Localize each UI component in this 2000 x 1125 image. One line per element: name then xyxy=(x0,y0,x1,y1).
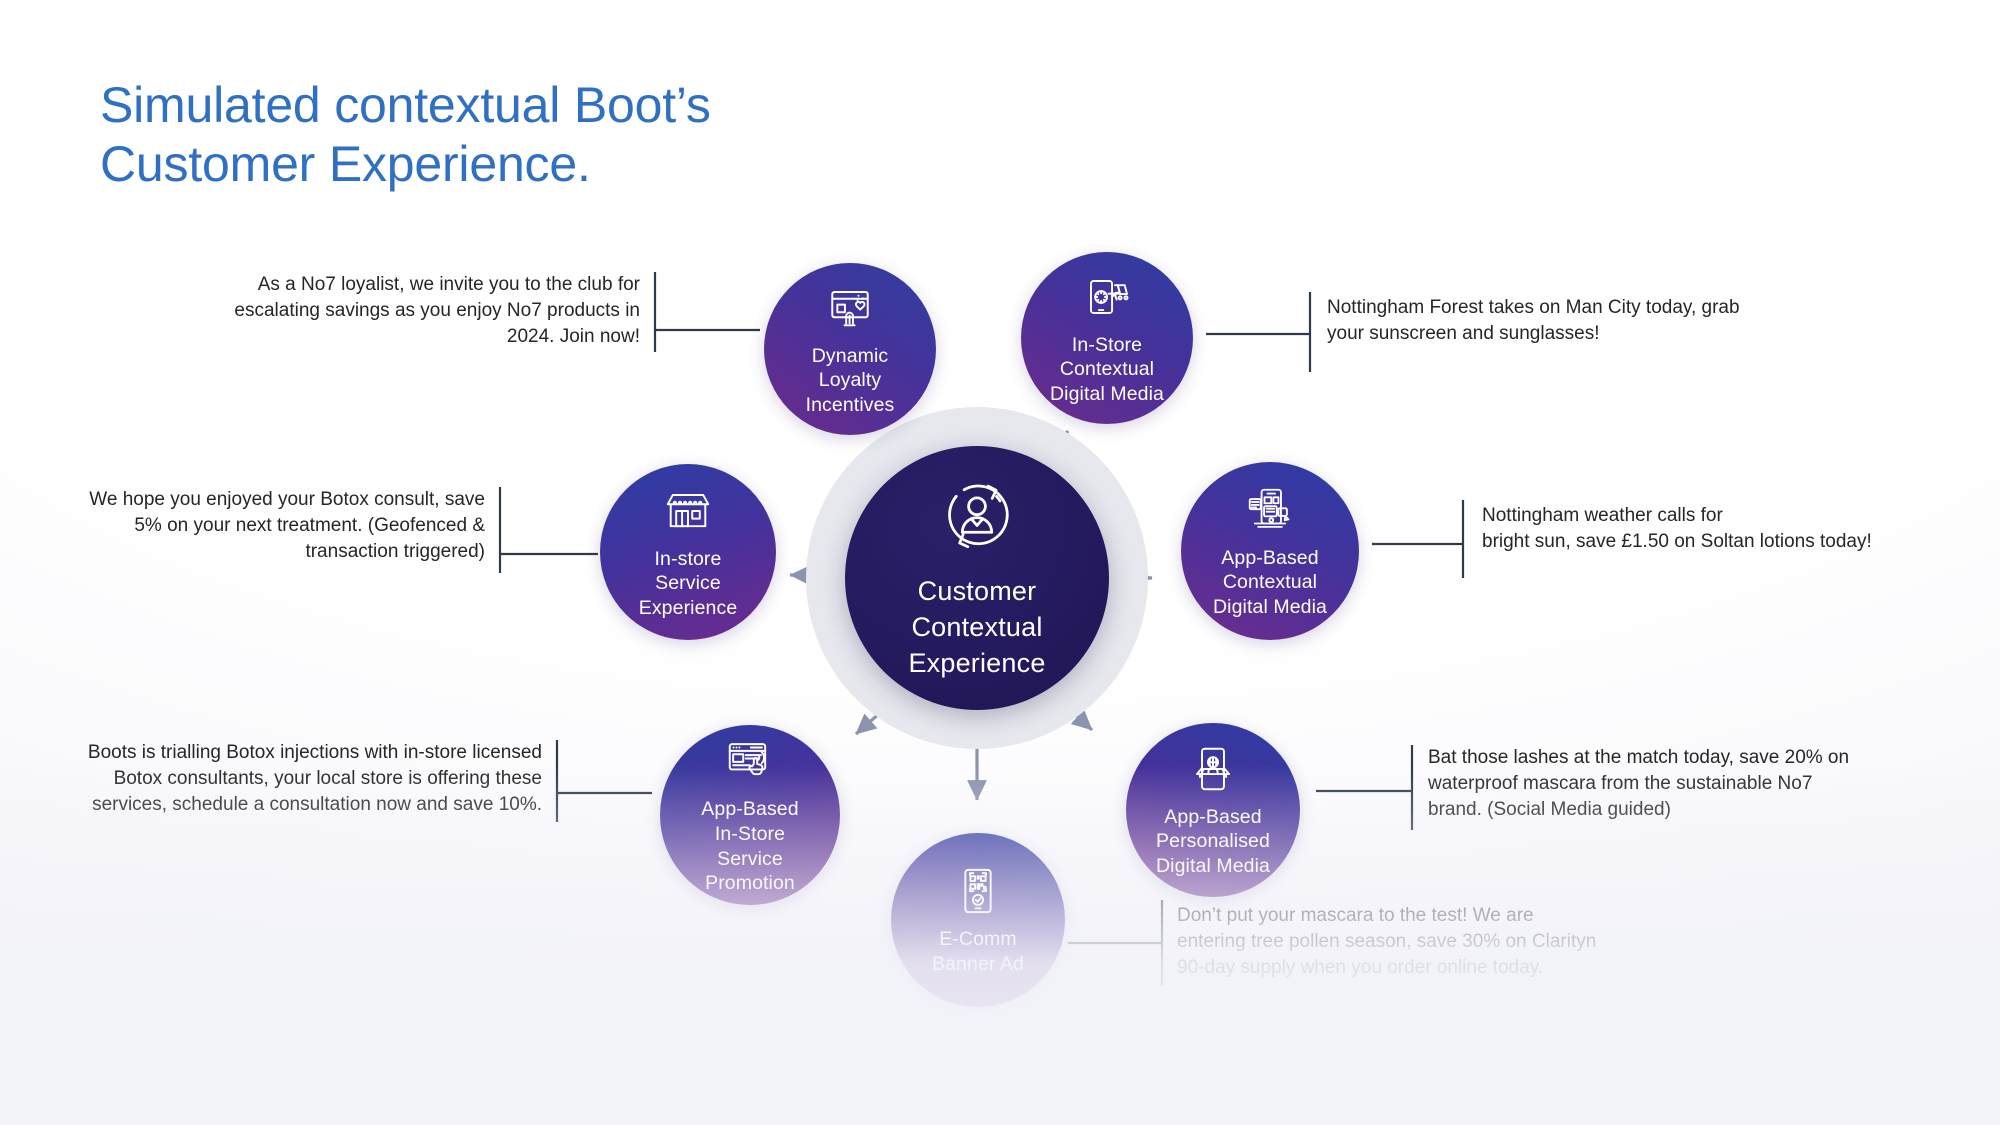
loyalty-card-tap-icon xyxy=(823,281,877,335)
app-screens-icon xyxy=(1243,483,1297,537)
phone-gear-cart-icon xyxy=(1080,270,1134,324)
customer-cycle-icon xyxy=(935,474,1019,558)
node-in-store-service-experience[interactable]: In-store Service Experience xyxy=(600,464,776,640)
node-label: App-Based Contextual Digital Media xyxy=(1213,546,1327,620)
node-label: In-store Service Experience xyxy=(639,547,738,621)
node-app-based-contextual-digital-media[interactable]: App-Based Contextual Digital Media xyxy=(1181,462,1359,640)
phone-qr-scan-icon xyxy=(951,864,1005,918)
node-label: App-Based In-Store Service Promotion xyxy=(701,797,798,895)
node-in-store-contextual-digital-media[interactable]: In-Store Contextual Digital Media xyxy=(1021,252,1193,424)
center-node[interactable]: Customer Contextual Experience xyxy=(845,446,1109,710)
phone-storefront-icon xyxy=(1186,742,1240,796)
caption-in-store-service: We hope you enjoyed your Botox consult, … xyxy=(60,487,485,564)
caption-in-store-contextual: Nottingham Forest takes on Man City toda… xyxy=(1327,295,1787,347)
node-app-based-personalised-digital-media[interactable]: App-Based Personalised Digital Media xyxy=(1126,723,1300,897)
caption-e-comm-banner: Don’t put your mascara to the test! We a… xyxy=(1177,903,1647,980)
node-label: E-Comm Banner Ad xyxy=(932,927,1024,976)
node-label: In-Store Contextual Digital Media xyxy=(1050,333,1164,407)
node-app-based-in-store-service-promotion[interactable]: App-Based In-Store Service Promotion xyxy=(660,725,840,905)
caption-app-based-personalised: Bat those lashes at the match today, sav… xyxy=(1428,745,1898,822)
node-label: Dynamic Loyalty Incentives xyxy=(806,344,895,418)
node-label: App-Based Personalised Digital Media xyxy=(1156,805,1270,879)
node-e-comm-banner-ad[interactable]: E-Comm Banner Ad xyxy=(891,833,1065,1007)
diagram-canvas: Simulated contextual Boot’s Customer Exp… xyxy=(0,0,2000,1125)
browser-tap-icon xyxy=(723,734,777,788)
storefront-icon xyxy=(661,484,715,538)
node-dynamic-loyalty-incentives[interactable]: Dynamic Loyalty Incentives xyxy=(764,263,936,435)
center-node-label: Customer Contextual Experience xyxy=(908,574,1045,682)
caption-app-based-in-store-promo: Boots is trialling Botox injections with… xyxy=(60,740,542,817)
caption-app-based-contextual: Nottingham weather calls for bright sun,… xyxy=(1482,503,1942,555)
caption-dynamic-loyalty: As a No7 loyalist, we invite you to the … xyxy=(215,272,640,349)
